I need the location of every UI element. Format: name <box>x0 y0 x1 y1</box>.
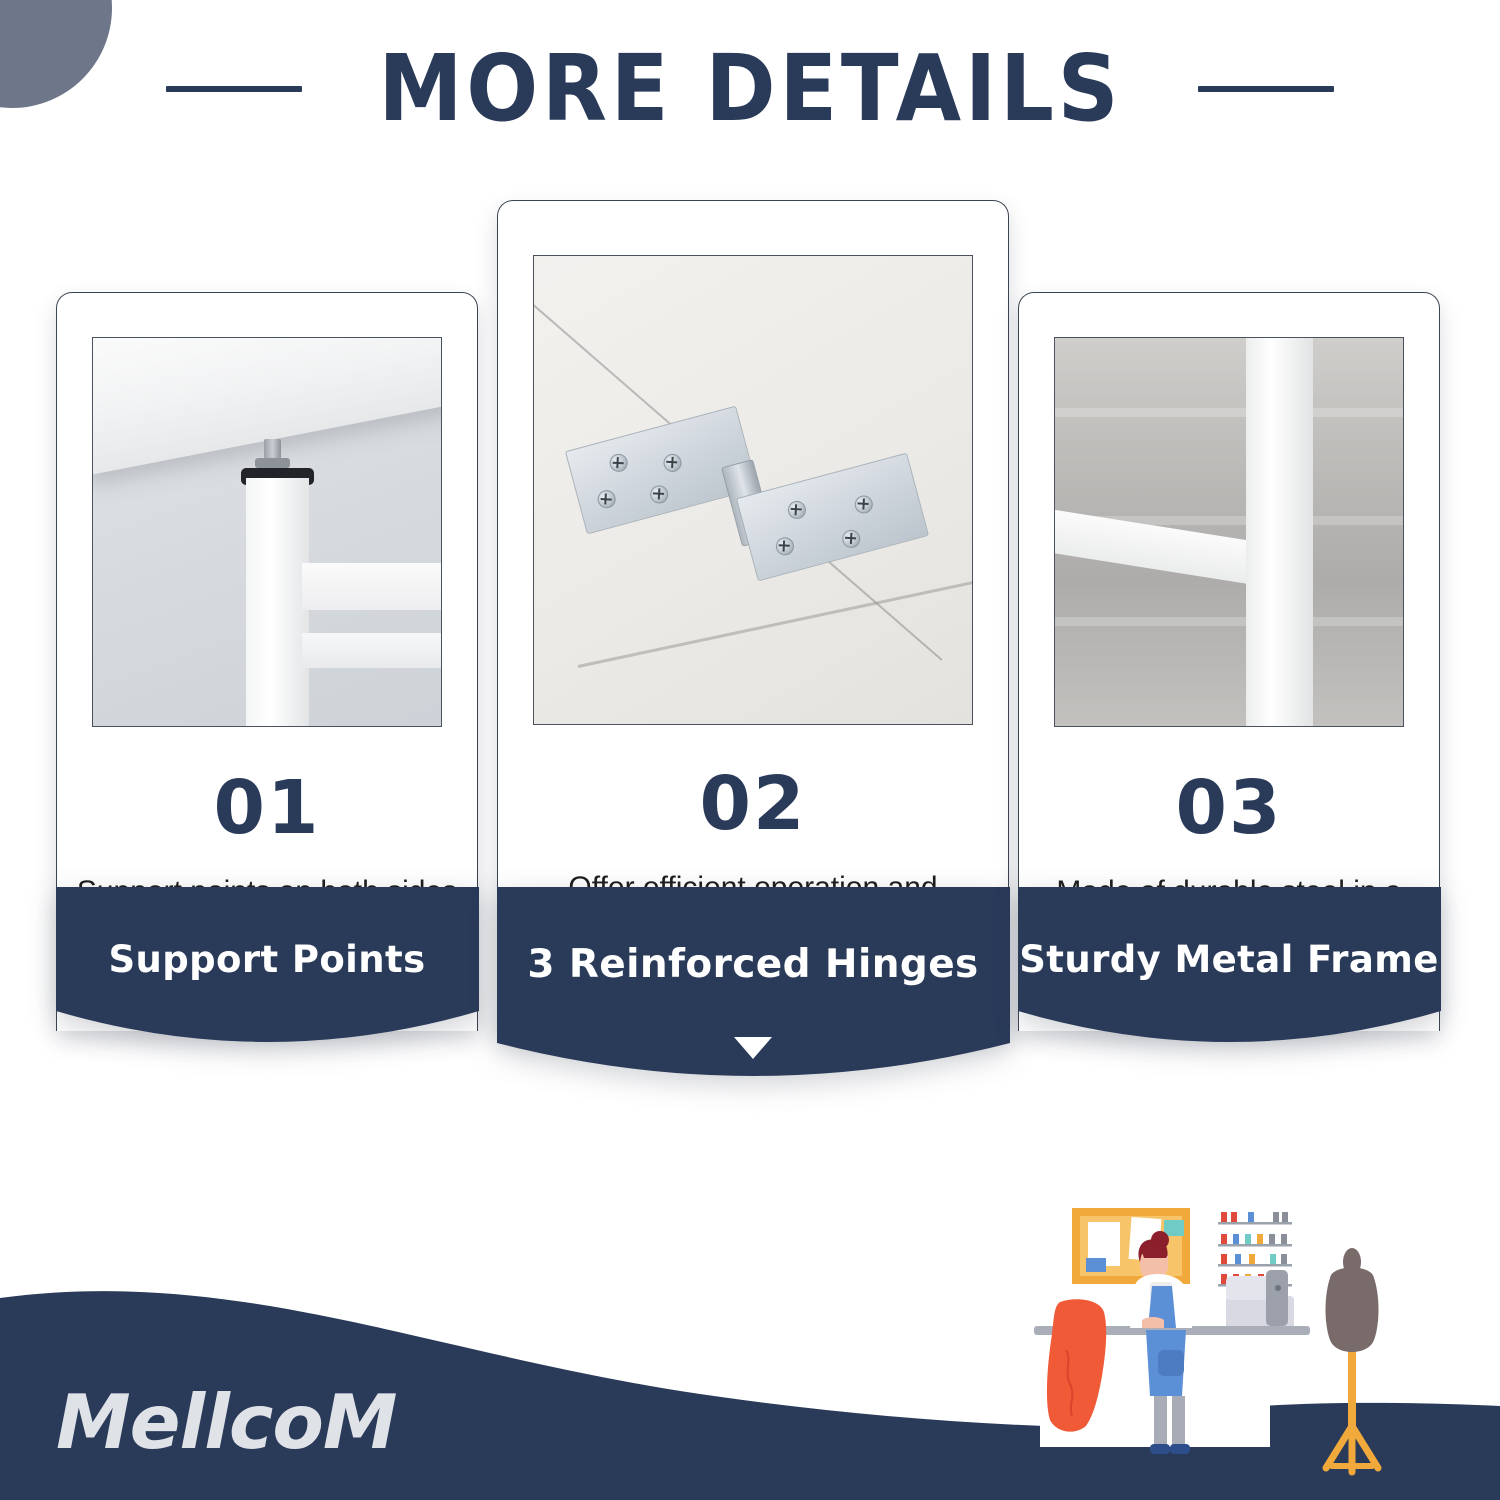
metal-frame-photo-art <box>1055 338 1403 726</box>
feature-card-01[interactable]: 01 Support points on both sides are used… <box>56 292 478 1031</box>
chevron-down-icon[interactable] <box>734 1037 772 1059</box>
banner-label-03: Sturdy Metal Frame <box>1018 887 1441 978</box>
floor-line-shape <box>1055 408 1403 417</box>
hinge-photo-art <box>534 256 972 724</box>
screw-icon <box>608 452 630 474</box>
screw-icon <box>774 535 796 557</box>
support-point-photo-art <box>93 338 441 726</box>
leg-rail-upper-shape <box>302 563 442 610</box>
screw-icon <box>853 493 875 515</box>
card-photo-support-point <box>92 337 442 727</box>
feature-cards-container: 01 Support points on both sides are used… <box>0 0 1500 1260</box>
banner-label-01: Support Points <box>56 887 479 978</box>
illustration-shape <box>1030 1200 1500 1500</box>
support-pin-head-shape <box>255 458 290 467</box>
screw-icon <box>662 451 684 473</box>
hinge-plate-right-shape <box>736 452 929 581</box>
banner-label-02: 3 Reinforced Hinges <box>497 887 1010 984</box>
card-photo-metal-frame <box>1054 337 1404 727</box>
card-banner-01: Support Points <box>56 887 479 1051</box>
card-number-02: 02 <box>700 767 807 841</box>
card-number-01: 01 <box>214 771 321 845</box>
card-photo-hinge <box>533 255 973 725</box>
frame-leg-shape <box>1246 337 1312 727</box>
feature-card-03[interactable]: 03 Made of durable steel in a white fini… <box>1018 292 1440 1031</box>
screw-icon <box>596 488 618 510</box>
card-banner-02: 3 Reinforced Hinges <box>497 887 1010 1087</box>
feature-card-02[interactable]: 02 Offer efficient operation and long-la… <box>497 200 1009 1031</box>
card-number-03: 03 <box>1176 771 1283 845</box>
screw-icon <box>649 483 671 505</box>
leg-rail-lower-shape <box>302 633 442 668</box>
brand-logo: MellcoM <box>56 1385 397 1460</box>
floor-line-shape <box>1055 617 1403 626</box>
tabletop-edge-line <box>577 565 973 668</box>
screw-icon <box>841 527 863 549</box>
screw-icon <box>786 499 808 521</box>
leg-post-shape <box>246 478 309 727</box>
seamstress-workshop-illustration <box>1030 1200 1500 1500</box>
card-banner-03: Sturdy Metal Frame <box>1018 887 1441 1051</box>
